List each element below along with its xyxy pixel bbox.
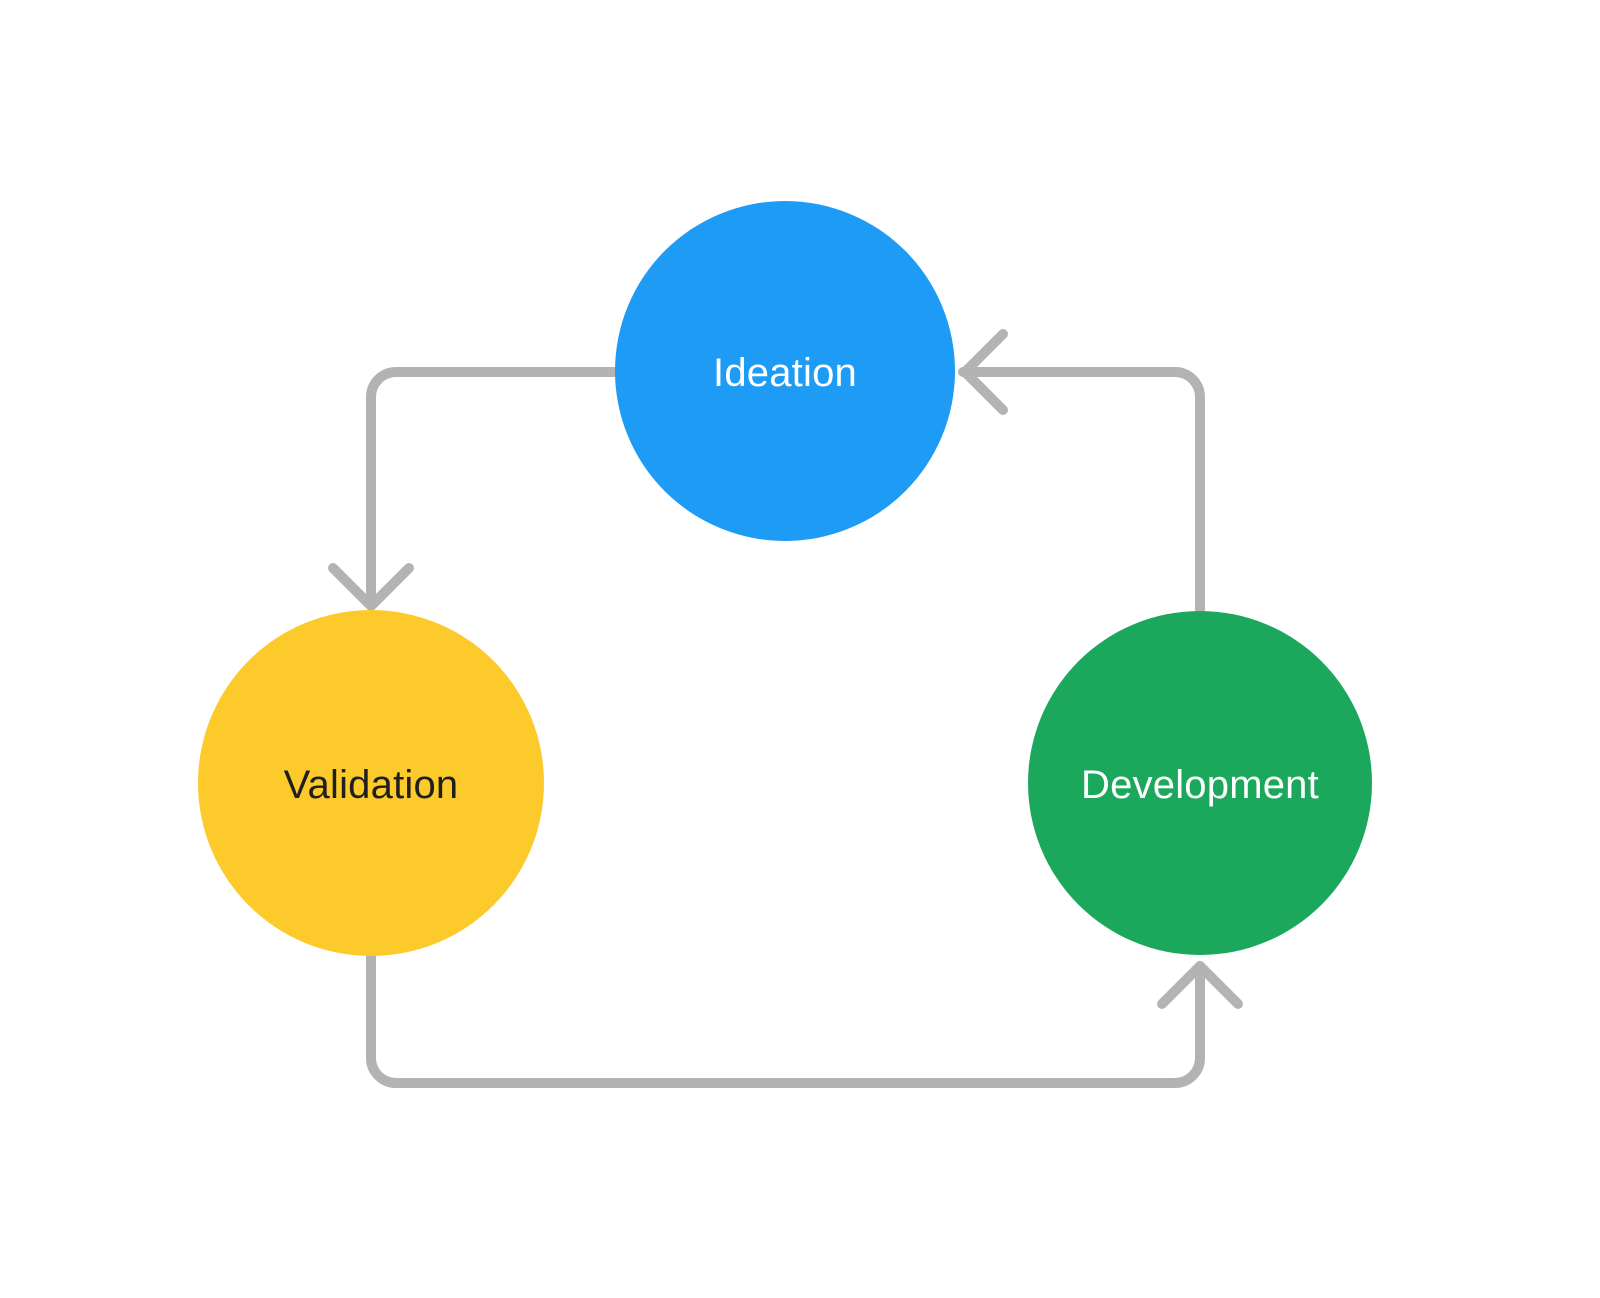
node-development[interactable]: Development — [1028, 611, 1372, 955]
node-validation[interactable]: Validation — [198, 610, 544, 956]
edge-line-validation-to-development — [371, 956, 1200, 1083]
diagram-canvas: Ideation Validation Development — [0, 0, 1600, 1298]
node-validation-label: Validation — [284, 763, 459, 807]
edge-ideation-to-validation[interactable] — [333, 372, 615, 606]
edge-development-to-ideation[interactable] — [963, 334, 1200, 612]
cycle-diagram: Ideation Validation Development — [0, 0, 1600, 1298]
node-ideation[interactable]: Ideation — [615, 201, 955, 541]
edge-validation-to-development[interactable] — [371, 956, 1238, 1083]
node-development-label: Development — [1081, 763, 1319, 807]
node-ideation-label: Ideation — [713, 351, 857, 395]
